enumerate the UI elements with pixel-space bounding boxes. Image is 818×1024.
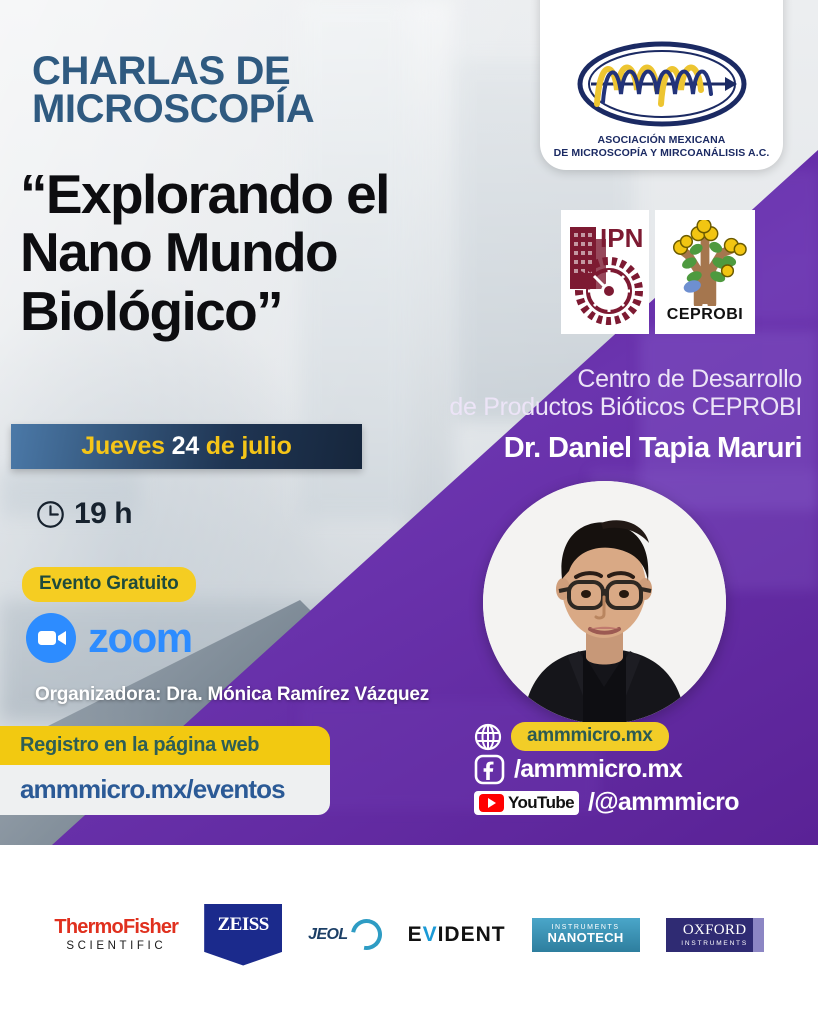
globe-icon (474, 723, 502, 751)
facebook-handle[interactable]: /ammmicro.mx (514, 755, 682, 784)
youtube-play-icon (479, 794, 504, 812)
association-caption: ASOCIACIÓN MEXICANA DE MICROSCOPÍA Y MIR… (554, 134, 770, 160)
speaker-portrait (483, 481, 726, 724)
registration-block[interactable]: Registro en la página web ammmicro.mx/ev… (0, 726, 330, 815)
affiliation-line2: de Productos Bióticos CEPROBI (398, 393, 802, 421)
sponsor-bar: ThermoFisher SCIENTIFIC ZEISS JEOL EVIDE… (0, 845, 818, 1024)
event-time: 19 h (74, 497, 132, 531)
association-caption-line2: DE MICROSCOPÍA Y MIRCOANÁLISIS A.C. (554, 147, 770, 160)
platform-name: zoom (88, 617, 192, 659)
facebook-icon (474, 754, 505, 785)
website-row[interactable]: ammmicro.mx (474, 722, 804, 751)
poster-kicker: CHARLAS DE MICROSCOPÍA (32, 52, 462, 129)
ceprobi-label: CEPROBI (667, 306, 743, 324)
zeiss-logo: ZEISS (204, 904, 282, 966)
speaker-name: Dr. Daniel Tapia Maruri (398, 432, 802, 465)
date-number: 24 (172, 432, 199, 460)
evident-pre: E (408, 923, 423, 946)
event-date-text: Jueves 24 de julio (81, 432, 291, 461)
youtube-wordmark: YouTube (508, 793, 574, 813)
evident-wordmark: EVIDENT (408, 923, 506, 947)
evident-post: IDENT (438, 923, 506, 946)
portrait-illustration (483, 481, 726, 724)
svg-text:IPN: IPN (600, 223, 643, 253)
ipn-emblem-icon: IPN (564, 213, 646, 331)
social-links: ammmicro.mx /ammmicro.mx YouTube /@ammmi… (474, 722, 804, 820)
nanotech-logo: INSTRUMENTS NANOTECH (532, 918, 640, 952)
poster-headline: “Explorando el Nano Mundo Biológico” (20, 165, 520, 340)
thermo-fisher-subtitle: SCIENTIFIC (66, 940, 166, 952)
ceprobi-logo: CEPROBI (655, 210, 755, 334)
clock-icon (36, 500, 65, 529)
platform-row: zoom (25, 612, 192, 664)
institution-logos: IPN (561, 210, 755, 334)
website-pill[interactable]: ammmicro.mx (511, 722, 669, 751)
free-event-label: Evento Gratuito (39, 573, 179, 594)
headline-line3: Biológico” (20, 282, 520, 340)
oxford-instruments-logo: OXFORD INSTRUMENTS (666, 918, 764, 952)
event-date-banner: Jueves 24 de julio (11, 424, 362, 469)
thermo-fisher-logo: ThermoFisher SCIENTIFIC (54, 917, 178, 952)
registration-label: Registro en la página web (20, 734, 259, 756)
event-time-row: 19 h (36, 497, 132, 531)
evident-accent: V (423, 923, 438, 946)
event-poster: ASOCIACIÓN MEXICANA DE MICROSCOPÍA Y MIR… (0, 0, 818, 1024)
association-caption-line1: ASOCIACIÓN MEXICANA (554, 134, 770, 147)
kicker-line2: MICROSCOPÍA (32, 90, 462, 128)
organizer-text: Organizadora: Dra. Mónica Ramírez Vázque… (35, 684, 429, 706)
date-prefix: Jueves (81, 432, 171, 460)
zoom-camera-icon (25, 612, 77, 664)
thermo-fisher-wordmark: ThermoFisher (54, 917, 178, 937)
evident-logo: EVIDENT (408, 923, 506, 947)
jeol-arc-icon (344, 913, 387, 956)
ipn-logo: IPN (561, 210, 649, 334)
zeiss-wordmark: ZEISS (217, 914, 268, 936)
free-event-badge: Evento Gratuito (22, 567, 196, 602)
registration-url[interactable]: ammmicro.mx/eventos (20, 774, 285, 804)
youtube-handle[interactable]: /@ammmicro (588, 788, 739, 817)
waveform-ellipse-logo (573, 38, 751, 130)
affiliation-line1: Centro de Desarrollo (398, 365, 802, 393)
facebook-row[interactable]: /ammmicro.mx (474, 754, 804, 785)
jeol-logo: JEOL (308, 919, 381, 950)
registration-url-bar[interactable]: ammmicro.mx/eventos (0, 765, 330, 815)
date-suffix: de julio (199, 432, 292, 460)
kicker-line1: CHARLAS DE (32, 52, 462, 90)
headline-line1: “Explorando el (20, 165, 520, 223)
oxford-subtitle: INSTRUMENTS (681, 940, 748, 947)
youtube-icon[interactable]: YouTube (474, 791, 579, 815)
oxford-wordmark: OXFORD (683, 923, 746, 938)
youtube-row[interactable]: YouTube /@ammmicro (474, 788, 804, 817)
website-url[interactable]: ammmicro.mx (527, 725, 653, 746)
ceprobi-tree-icon (658, 220, 752, 306)
jeol-wordmark: JEOL (308, 926, 347, 944)
speaker-affiliation: Centro de Desarrollo de Productos Biótic… (398, 365, 802, 421)
registration-label-bar: Registro en la página web (0, 726, 330, 765)
headline-line2: Nano Mundo (20, 223, 520, 281)
nanotech-wordmark: NANOTECH (548, 931, 624, 945)
association-logo-card: ASOCIACIÓN MEXICANA DE MICROSCOPÍA Y MIR… (540, 0, 783, 170)
